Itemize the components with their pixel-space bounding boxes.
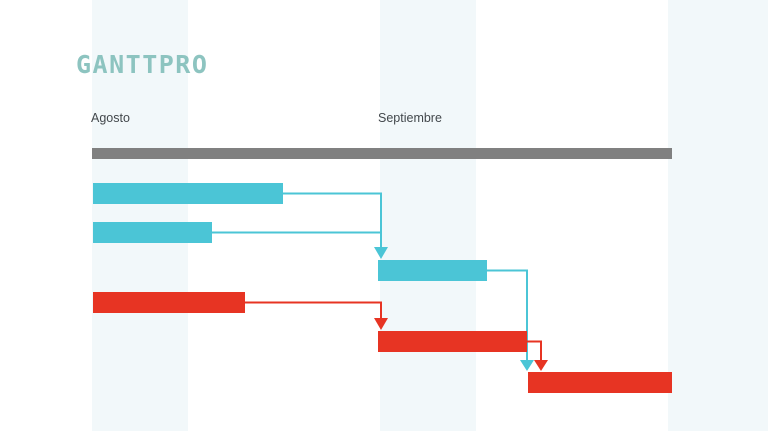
grid-column-4 <box>380 0 477 431</box>
gantt-chart-canvas: GANTTPRO Agosto Septiembre <box>0 0 768 431</box>
task-bar-1[interactable] <box>93 183 283 204</box>
grid-column-5 <box>476 0 573 431</box>
grid-column-7 <box>668 0 768 431</box>
task-bar-4[interactable] <box>93 292 245 313</box>
task-bar-2[interactable] <box>93 222 212 243</box>
grid-column-3 <box>284 0 381 431</box>
task-bar-3[interactable] <box>378 260 487 281</box>
month-label-septiembre: Septiembre <box>378 112 442 125</box>
month-label-agosto: Agosto <box>91 112 130 125</box>
ganttpro-logo: GANTTPRO <box>76 52 208 77</box>
timeline-header-bar <box>92 148 672 159</box>
grid-column-6 <box>572 0 669 431</box>
task-bar-5[interactable] <box>378 331 527 352</box>
task-bar-6[interactable] <box>528 372 672 393</box>
